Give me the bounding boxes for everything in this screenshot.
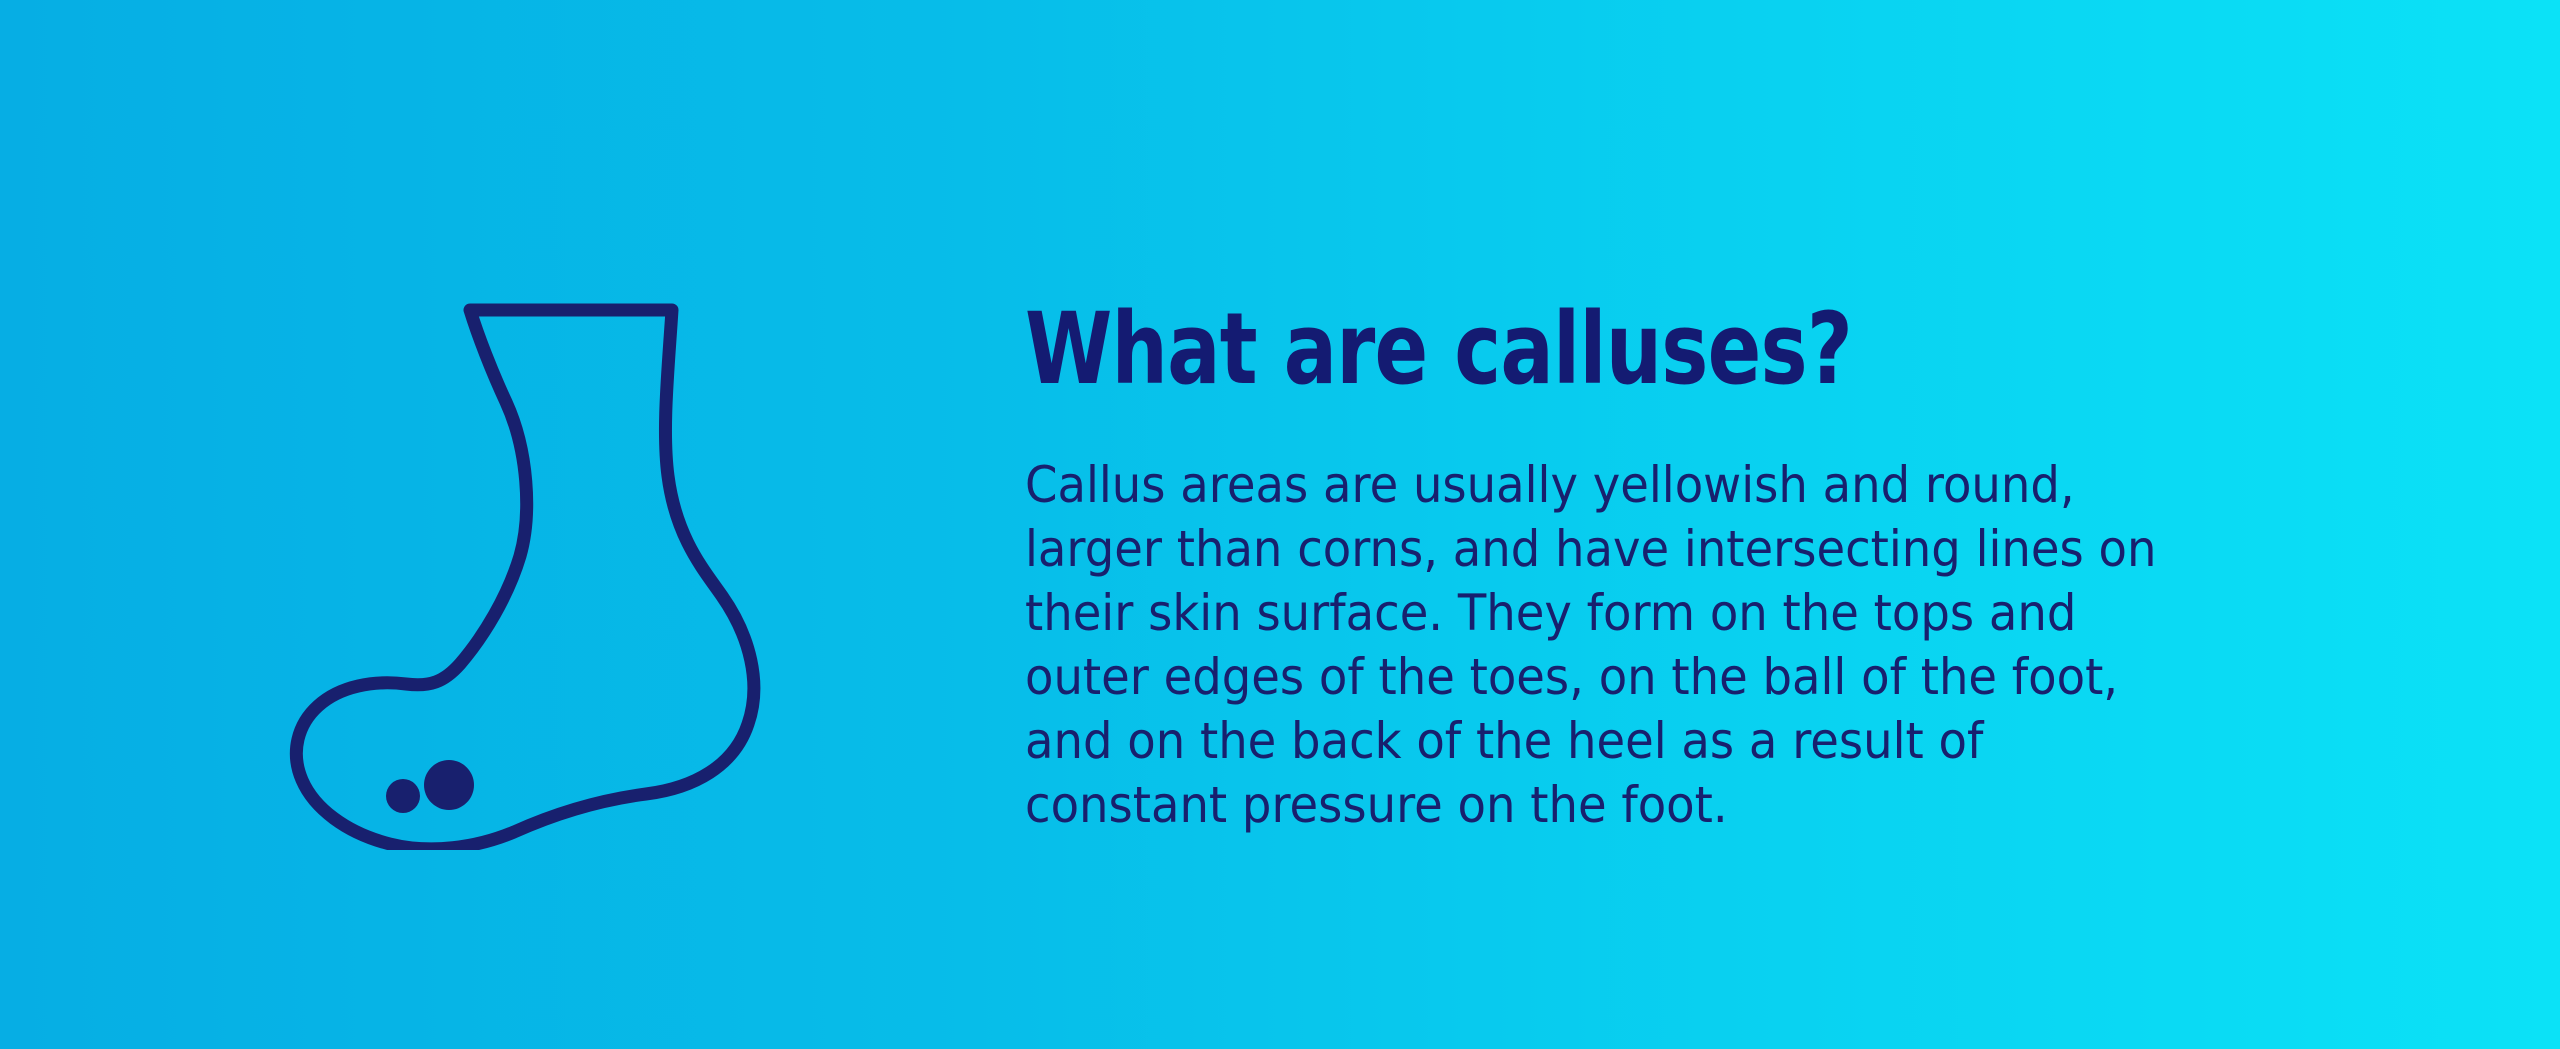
text-column: What are calluses? Callus areas are usua…	[1025, 300, 2445, 837]
foot-outline-path	[296, 310, 754, 849]
body-line: Callus areas are usually yellowish and r…	[1025, 453, 2439, 517]
body-line: larger than corns, and have intersecting…	[1025, 517, 2439, 581]
page-title: What are calluses?	[1025, 300, 2161, 399]
body-line: constant pressure on the foot.	[1025, 773, 2439, 837]
body-line: their skin surface. They form on the top…	[1025, 581, 2439, 645]
callus-bump-small	[386, 779, 420, 813]
callus-bump-large	[424, 760, 474, 810]
body-paragraph: Callus areas are usually yellowish and r…	[1025, 453, 2439, 837]
foot-side-view-icon	[270, 280, 810, 850]
foot-illustration-container	[270, 280, 810, 850]
body-line: outer edges of the toes, on the ball of …	[1025, 645, 2439, 709]
callus-info-banner: What are calluses? Callus areas are usua…	[0, 0, 2560, 1049]
body-line: and on the back of the heel as a result …	[1025, 709, 2439, 773]
